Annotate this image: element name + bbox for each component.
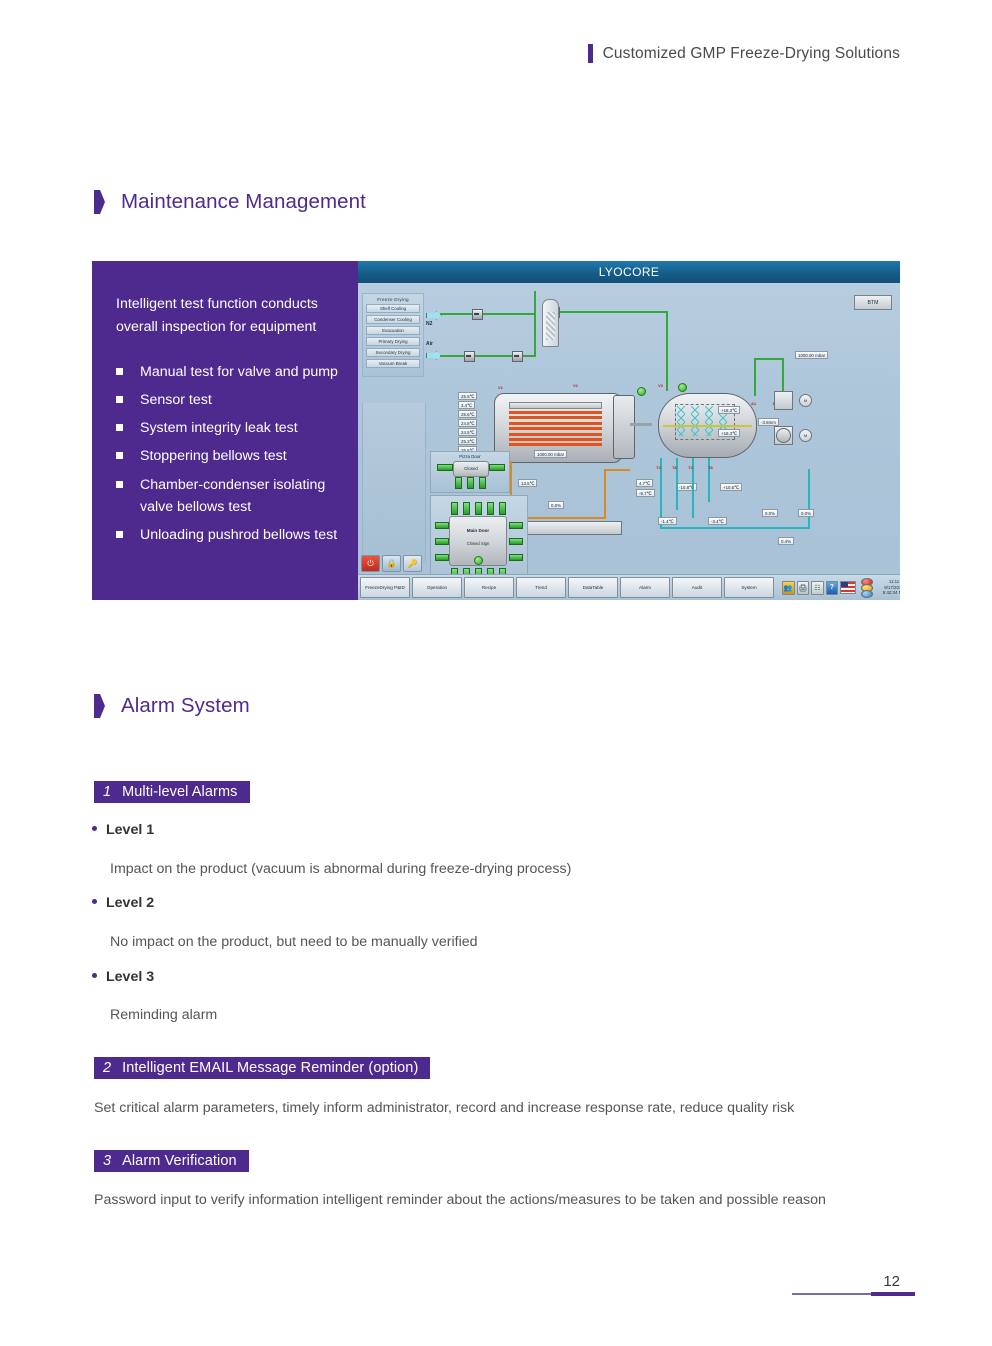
sensor-tag: TA xyxy=(672,465,677,470)
alarm-level-1: Level 1 xyxy=(92,822,154,838)
door-clamp-icon xyxy=(489,464,505,471)
clock-bottom: 9/17/2016 5:42:34 PM xyxy=(883,585,900,596)
shelf-temp-readout: 25.5℃ xyxy=(458,392,477,400)
temp-readout: +10.5℃ xyxy=(720,483,742,491)
valve-icon[interactable] xyxy=(472,309,483,320)
square-bullet-icon xyxy=(116,396,123,403)
list-item-label: Sensor test xyxy=(140,392,212,408)
power-icon[interactable]: ⏻ xyxy=(361,555,380,572)
nav-button-system[interactable]: System xyxy=(724,577,774,598)
hmi-title-bar: LYOCORE xyxy=(358,261,900,283)
level-label: Level 1 xyxy=(106,822,154,838)
valve-position-readout: 0.4% xyxy=(778,537,794,545)
nav-button-trend[interactable]: Trend xyxy=(516,577,566,598)
shelf xyxy=(509,438,602,441)
condenser-coil-icon xyxy=(691,406,699,436)
condenser-temp-readout: +18.3℃ xyxy=(718,406,740,414)
temp-readout: -3.4℃ xyxy=(708,517,727,525)
pipe-coolant-return xyxy=(604,469,630,471)
door-clamp-icon xyxy=(451,502,458,515)
footer-rule-accent xyxy=(871,1292,915,1296)
chamber-door xyxy=(613,395,635,459)
phase-item[interactable]: Secondary Drying xyxy=(366,348,420,357)
badge-number: 3 xyxy=(103,1153,111,1169)
alarm-group-badge-2: 2 Intelligent EMAIL Message Reminder (op… xyxy=(94,1057,430,1079)
door-clamp-icon xyxy=(475,502,482,515)
hmi-screenshot: LYOCORE BTM Freeze Drying Shelf Cooling … xyxy=(358,261,900,600)
pizza-door-state: Closed xyxy=(453,461,489,477)
door-clamp-icon xyxy=(479,477,486,489)
list-item-label: Stoppering bellows test xyxy=(140,448,287,464)
shelf xyxy=(509,411,602,414)
ice-condenser xyxy=(658,393,757,458)
alarm-group-badge-3: 3 Alarm Verification xyxy=(94,1150,249,1172)
door-clamp-icon xyxy=(487,502,494,515)
nav-button-audit[interactable]: Audit xyxy=(672,577,722,598)
section-heading-alarm: Alarm System xyxy=(94,694,250,718)
document-page: Customized GMP Freeze-Drying Solutions M… xyxy=(0,0,992,1346)
users-icon[interactable]: 👥 xyxy=(782,581,795,595)
door-clamp-icon xyxy=(435,522,449,529)
sensor-tag: TC xyxy=(688,465,693,470)
shelf-stack xyxy=(509,411,602,445)
list-item: Unloading pushrod bellows test xyxy=(114,524,342,546)
arrow-marker-icon xyxy=(94,694,105,718)
shelf-temp-readout: 3.4℃ xyxy=(458,401,475,409)
pipe-coolant-right xyxy=(604,469,606,519)
shelf-temp-readout: 25.3℃ xyxy=(458,437,477,445)
valve-position-readout: 0.0% xyxy=(762,509,778,517)
sensor-tag: TA xyxy=(708,465,713,470)
valve-tag: V1 xyxy=(498,385,503,390)
door-clamp-icon xyxy=(499,502,506,515)
valve-position-readout: 0.0% xyxy=(798,509,814,517)
pump-icon xyxy=(776,428,791,443)
hmi-clock: 11:11 9/17/2016 5:42:34 PM xyxy=(877,579,900,596)
square-bullet-icon xyxy=(116,481,123,488)
pipe-top-main xyxy=(548,311,668,313)
badge-number: 1 xyxy=(103,784,111,800)
hmi-navigation-toolbar: FreezeDrying P&ID Operation Recipe Trend… xyxy=(358,574,900,600)
alarm-lights-icon[interactable] xyxy=(860,578,871,597)
phase-list-panel: Freeze Drying Shelf Cooling Condenser Co… xyxy=(362,293,424,377)
hmi-process-diagram: BTM Freeze Drying Shelf Cooling Condense… xyxy=(358,283,900,574)
pipe-chamber-feed xyxy=(666,311,668,391)
list-item: Chamber-condenser isolating valve bellow… xyxy=(114,474,342,518)
instrument-gauge: M xyxy=(799,394,812,407)
phase-item[interactable]: Primary Drying xyxy=(366,337,420,346)
lock-icon[interactable]: 🔒 xyxy=(382,555,401,572)
vacuum-pump-1[interactable] xyxy=(774,391,793,410)
stoppering-rod xyxy=(630,423,652,426)
running-header: Customized GMP Freeze-Drying Solutions xyxy=(588,44,900,63)
shelf xyxy=(509,427,602,430)
air-label: Air xyxy=(426,341,433,347)
coolant-temp-readout: 13.5℃ xyxy=(518,479,537,487)
condenser-level-line xyxy=(663,425,752,427)
square-bullet-icon xyxy=(116,368,123,375)
alarm-level-3-description: Reminding alarm xyxy=(110,1005,217,1026)
valve-icon[interactable] xyxy=(512,351,523,362)
flag-icon[interactable] xyxy=(840,581,856,594)
pipe-vacuum-drop xyxy=(754,358,756,396)
shelf xyxy=(509,443,602,446)
chamber-vacuum-readout: 1000.00 mbar xyxy=(534,450,567,458)
level-label: Level 3 xyxy=(106,969,154,985)
pipe-refrig-right xyxy=(808,469,810,529)
door-clamp-icon xyxy=(435,538,449,545)
btm-button[interactable]: BTM xyxy=(854,295,892,310)
email-reminder-description: Set critical alarm parameters, timely in… xyxy=(94,1098,794,1119)
valve-tag: A1 xyxy=(751,401,756,406)
list-item: Manual test for valve and pump xyxy=(114,361,342,383)
main-door-state: Closed Sign xyxy=(450,541,506,546)
list-item: Sensor test xyxy=(114,389,342,411)
phase-item[interactable]: Shelf Cooling xyxy=(366,304,420,313)
temp-readout: -1.4℃ xyxy=(658,517,677,525)
temp-readout: 4.7℃ xyxy=(636,479,653,487)
badge-title: Alarm Verification xyxy=(122,1153,237,1169)
bullet-dot-icon xyxy=(92,973,97,978)
network-icon[interactable]: ☷ xyxy=(811,581,824,595)
main-door-label: Main Door xyxy=(450,528,506,533)
square-bullet-icon xyxy=(116,424,123,431)
door-clamp-icon xyxy=(509,538,523,545)
n2-label: N2 xyxy=(426,321,432,327)
bullet-dot-icon xyxy=(92,899,97,904)
phase-panel-title: Freeze Drying xyxy=(366,297,420,302)
shelf xyxy=(509,416,602,419)
help-icon[interactable]: ? xyxy=(826,581,839,595)
shelf-temp-readout: 24.5℃ xyxy=(458,428,477,436)
pipe-n2-down xyxy=(534,313,536,357)
nav-button-datatable[interactable]: DataTable xyxy=(568,577,618,598)
level-label: Level 2 xyxy=(106,895,154,911)
hmi-mini-buttons: ⏻ 🔒 🔑 xyxy=(361,555,422,572)
status-indicator xyxy=(637,387,646,396)
condenser-temp-readout: +18.3℃ xyxy=(718,429,740,437)
valve-tag: V3 xyxy=(658,383,663,388)
badge-title: Intelligent EMAIL Message Reminder (opti… xyxy=(122,1060,418,1076)
nav-button-freezedrying-pid[interactable]: FreezeDrying P&ID xyxy=(360,577,410,598)
phase-item[interactable]: Vacuum Break xyxy=(366,359,420,368)
bullet-dot-icon xyxy=(92,826,97,831)
nav-button-operation[interactable]: Operation xyxy=(412,577,462,598)
valve-icon[interactable] xyxy=(464,351,475,362)
section-title: Maintenance Management xyxy=(121,190,366,214)
feature-bullet-list: Manual test for valve and pump Sensor te… xyxy=(114,361,342,546)
pipe-vent-up xyxy=(534,291,536,313)
sensor-tag: TC xyxy=(656,465,661,470)
section-title: Alarm System xyxy=(121,694,250,718)
sterile-filter-icon xyxy=(542,299,559,347)
feature-text-panel: Intelligent test function conducts overa… xyxy=(92,261,358,600)
alarm-group-badge-1: 1 Multi-level Alarms xyxy=(94,781,250,803)
shelf-temp-readout: 24.8℃ xyxy=(458,419,477,427)
pizza-door-panel: Closed Pizza Door xyxy=(430,451,510,493)
temp-readout: -6.7℃ xyxy=(636,489,655,497)
instrument-gauge: M xyxy=(799,429,812,442)
section-heading-maintenance: Maintenance Management xyxy=(94,190,366,214)
nav-button-alarm[interactable]: Alarm xyxy=(620,577,670,598)
door-clamp-icon xyxy=(509,522,523,529)
list-item-label: Unloading pushrod bellows test xyxy=(140,527,337,543)
list-item: Stoppering bellows test xyxy=(114,445,342,467)
condenser-coil-icon xyxy=(677,406,685,436)
printer-icon[interactable]: 🖨 xyxy=(797,581,810,595)
alarm-level-3: Level 3 xyxy=(92,969,154,985)
pipe-n2 xyxy=(440,313,536,315)
header-accent-bar xyxy=(588,44,593,63)
hmi-status-icons: 👥 🖨 ☷ ? 11:11 9/17/2016 5:42:34 PM xyxy=(782,578,900,597)
shelf xyxy=(509,422,602,425)
alarm-level-2: Level 2 xyxy=(92,895,154,911)
position-readout: -3.8mm xyxy=(758,418,779,426)
door-clamp-icon xyxy=(437,464,453,471)
heat-exchanger xyxy=(524,521,622,535)
phase-panel-body xyxy=(362,403,426,563)
door-clamp-icon xyxy=(467,477,474,489)
door-clamp-icon xyxy=(455,477,462,489)
feature-lead-text: Intelligent test function conducts overa… xyxy=(116,293,342,339)
arrow-marker-icon xyxy=(94,190,105,214)
shelf xyxy=(509,433,602,436)
list-item-label: System integrity leak test xyxy=(140,420,298,436)
nav-button-recipe[interactable]: Recipe xyxy=(464,577,514,598)
shelf-temp-readout: 25.6℃ xyxy=(458,410,477,418)
chamber-lid xyxy=(509,402,602,409)
running-header-text: Customized GMP Freeze-Drying Solutions xyxy=(603,45,900,63)
page-number: 12 xyxy=(883,1273,900,1290)
alarm-level-1-description: Impact on the product (vacuum is abnorma… xyxy=(110,859,571,880)
page-footer: 12 xyxy=(0,1272,992,1312)
door-clamp-icon xyxy=(509,554,523,561)
valve-tag: V2 xyxy=(573,383,578,388)
door-status-dot xyxy=(474,556,483,565)
pipe-vacuum-top xyxy=(754,358,784,360)
door-clamp-icon xyxy=(435,554,449,561)
alarm-level-2-description: No impact on the product, but need to be… xyxy=(110,932,478,953)
door-clamp-icon xyxy=(463,502,470,515)
pipe-refrig-bottom xyxy=(660,527,810,529)
pizza-door-label: Pizza Door xyxy=(431,454,509,459)
status-indicator xyxy=(678,383,687,392)
vacuum-readout: 1000.00 mbar xyxy=(795,351,828,359)
clock-top: 11:11 xyxy=(889,579,899,584)
alarm-verification-description: Password input to verify information int… xyxy=(94,1190,826,1211)
valve-position-readout: 0.0% xyxy=(548,501,564,509)
square-bullet-icon xyxy=(116,531,123,538)
square-bullet-icon xyxy=(116,452,123,459)
key-icon[interactable]: 🔑 xyxy=(403,555,422,572)
list-item-label: Chamber-condenser isolating valve bellow… xyxy=(140,477,325,515)
list-item: System integrity leak test xyxy=(114,417,342,439)
badge-title: Multi-level Alarms xyxy=(122,784,237,800)
phase-item[interactable]: Evacuation xyxy=(366,326,420,335)
phase-item[interactable]: Condenser Cooling xyxy=(366,315,420,324)
badge-number: 2 xyxy=(103,1060,111,1076)
maintenance-feature-block: Intelligent test function conducts overa… xyxy=(92,261,900,600)
condenser-coil-icon xyxy=(705,406,713,436)
list-item-label: Manual test for valve and pump xyxy=(140,364,338,380)
